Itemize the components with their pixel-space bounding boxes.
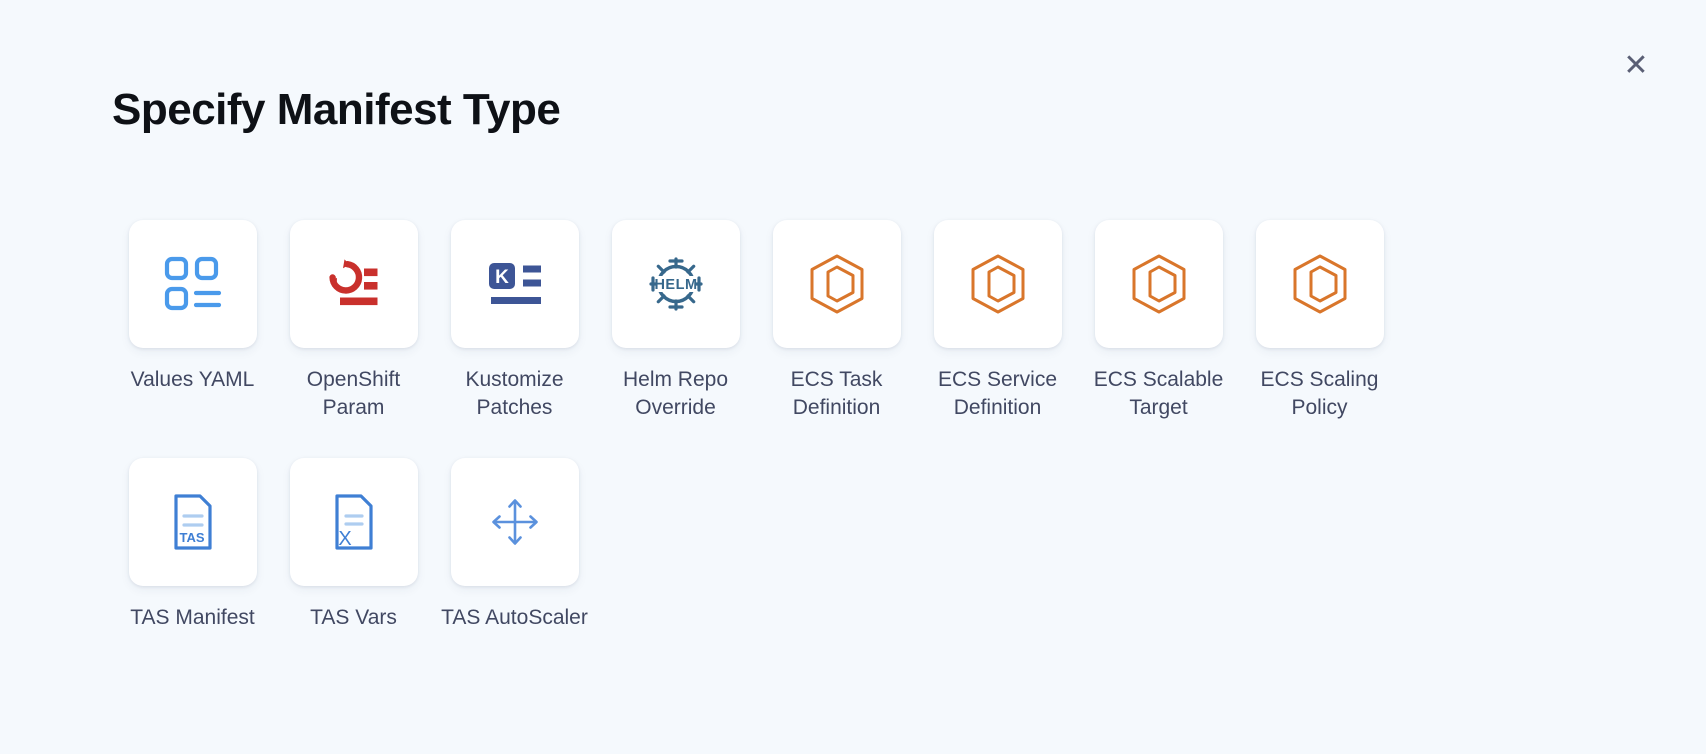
manifest-type-label: TAS AutoScaler (441, 604, 588, 632)
manifest-type-label: ECS Task Definition (761, 366, 913, 422)
tas-vars-icon[interactable]: X (290, 458, 418, 586)
manifest-type-tile-ecs-scalable-target[interactable]: ECS Scalable Target (1078, 220, 1239, 422)
specify-manifest-type-dialog: ✕ Specify Manifest Type Values YAML Open… (0, 0, 1706, 754)
tas-autoscaler-icon[interactable] (451, 458, 579, 586)
ecs-hexagon-icon[interactable] (934, 220, 1062, 348)
manifest-type-label: OpenShift Param (278, 366, 430, 422)
ecs-hexagon-icon[interactable] (1095, 220, 1223, 348)
manifest-type-tile-kustomize-patches[interactable]: K Kustomize Patches (434, 220, 595, 422)
manifest-type-tile-tas-vars[interactable]: X TAS Vars (273, 458, 434, 632)
svg-text:X: X (338, 528, 351, 550)
manifest-type-tile-ecs-service-definition[interactable]: ECS Service Definition (917, 220, 1078, 422)
page-title: Specify Manifest Type (112, 86, 560, 134)
ecs-hexagon-icon[interactable] (773, 220, 901, 348)
svg-text:HELM: HELM (654, 277, 697, 293)
manifest-type-tile-tas-manifest[interactable]: TAS TAS Manifest (112, 458, 273, 632)
kustomize-icon[interactable]: K (451, 220, 579, 348)
values-yaml-icon[interactable] (129, 220, 257, 348)
manifest-type-label: TAS Vars (310, 604, 397, 632)
manifest-type-tile-helm-repo-override[interactable]: HELM Helm Repo Override (595, 220, 756, 422)
manifest-type-grid: Values YAML OpenShift Param K Kustomize … (112, 220, 1512, 668)
manifest-type-tile-ecs-task-definition[interactable]: ECS Task Definition (756, 220, 917, 422)
manifest-type-tile-tas-autoscaler[interactable]: TAS AutoScaler (434, 458, 595, 632)
manifest-type-label: ECS Scaling Policy (1244, 366, 1396, 422)
manifest-type-label: TAS Manifest (130, 604, 254, 632)
openshift-icon[interactable] (290, 220, 418, 348)
tas-manifest-icon[interactable]: TAS (129, 458, 257, 586)
manifest-type-tile-values-yaml[interactable]: Values YAML (112, 220, 273, 422)
close-icon[interactable]: ✕ (1614, 44, 1658, 88)
svg-text:K: K (495, 267, 509, 288)
manifest-type-tile-ecs-scaling-policy[interactable]: ECS Scaling Policy (1239, 220, 1400, 422)
manifest-type-label: ECS Service Definition (922, 366, 1074, 422)
manifest-type-tile-openshift-param[interactable]: OpenShift Param (273, 220, 434, 422)
manifest-type-label: Values YAML (131, 366, 255, 394)
manifest-type-label: Helm Repo Override (600, 366, 752, 422)
manifest-type-label: ECS Scalable Target (1083, 366, 1235, 422)
svg-text:TAS: TAS (179, 530, 204, 545)
ecs-hexagon-icon[interactable] (1256, 220, 1384, 348)
helm-icon[interactable]: HELM (612, 220, 740, 348)
manifest-type-label: Kustomize Patches (439, 366, 591, 422)
